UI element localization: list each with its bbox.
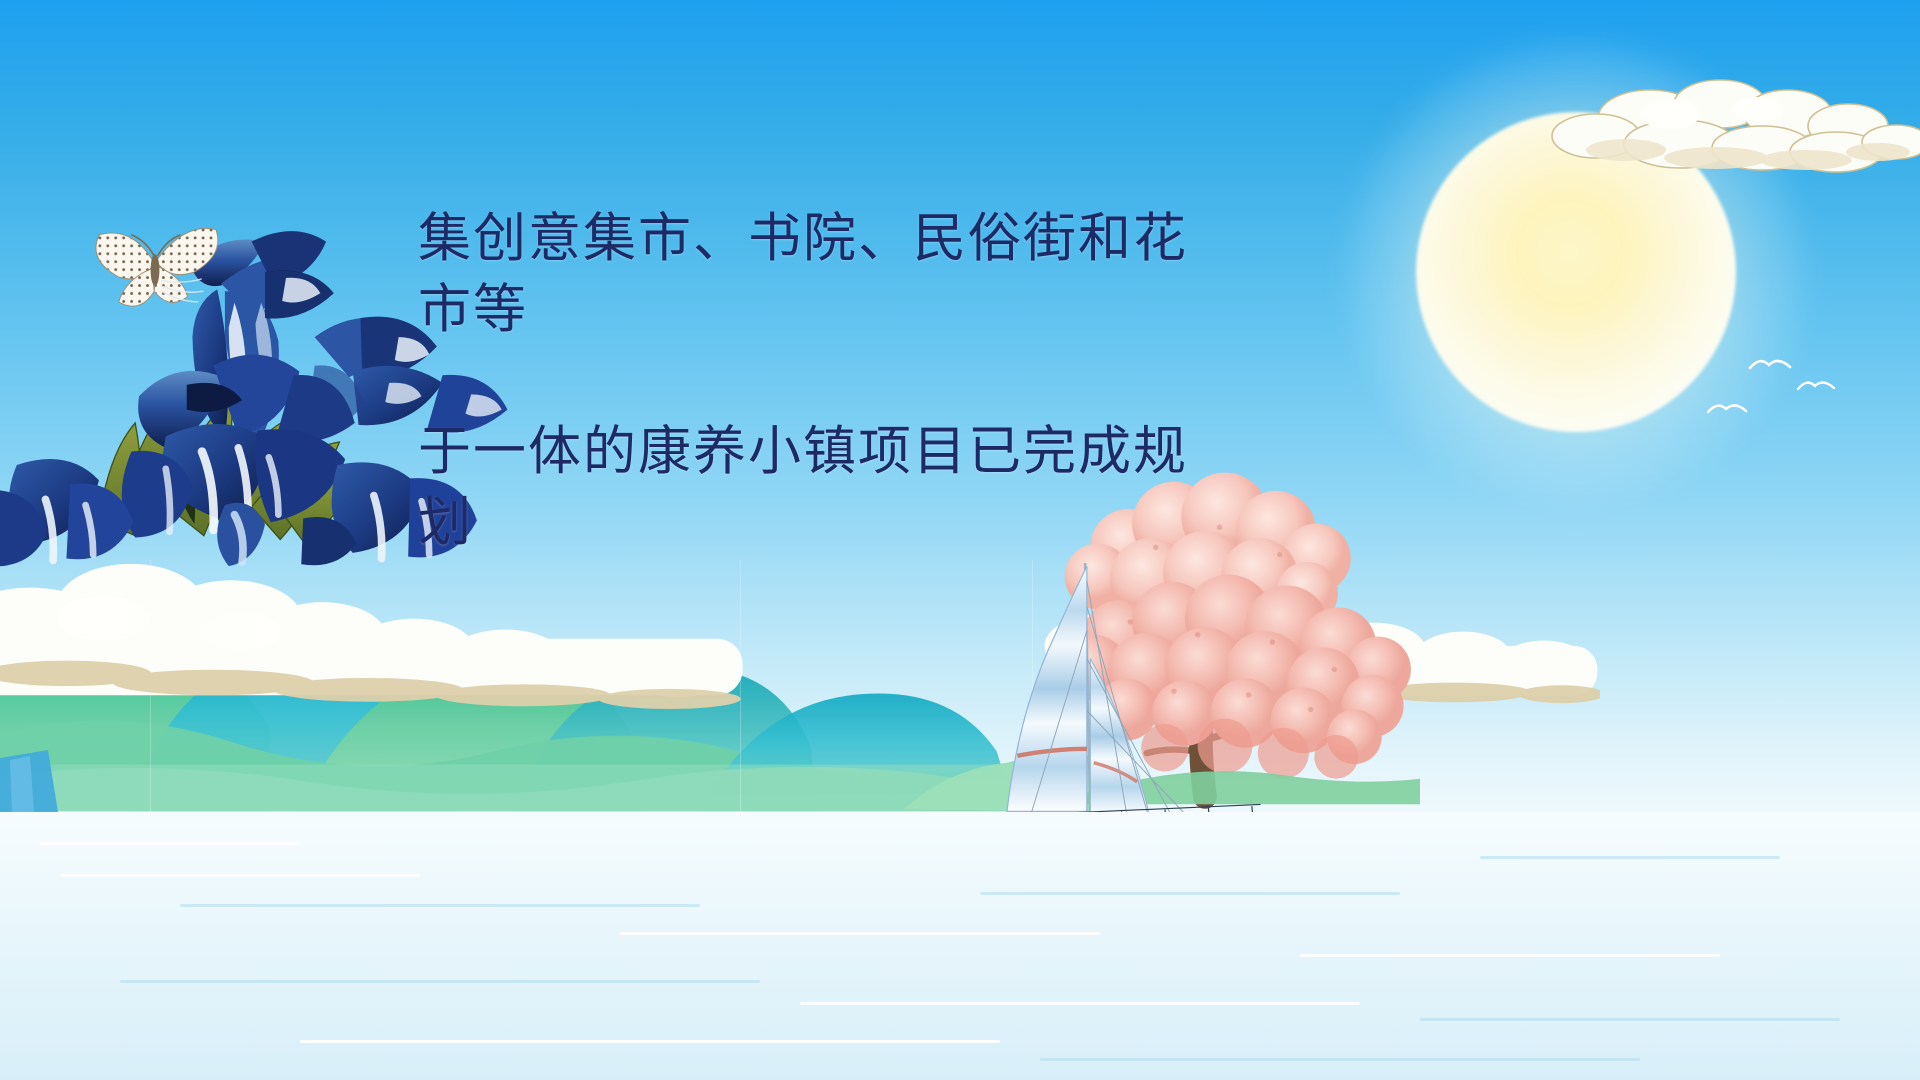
seagull-icon	[1748, 356, 1782, 370]
seagull-icon	[1706, 400, 1740, 414]
sea-surface	[0, 812, 1920, 1080]
seagull-icon	[1796, 378, 1830, 392]
cloud-top	[1530, 78, 1920, 188]
title-line-2: 于一体的康养小镇项目已完成规划	[418, 417, 1238, 559]
page-title: 集创意集市、书院、民俗街和花市等 于一体的康养小镇项目已完成规划	[418, 133, 1238, 630]
poster-canvas: 集创意集市、书院、民俗街和花市等 于一体的康养小镇项目已完成规划	[0, 0, 1920, 1080]
butterfly-icon	[80, 208, 230, 318]
title-line-1: 集创意集市、书院、民俗街和花市等	[418, 210, 1188, 339]
blue-cliff	[0, 750, 70, 820]
